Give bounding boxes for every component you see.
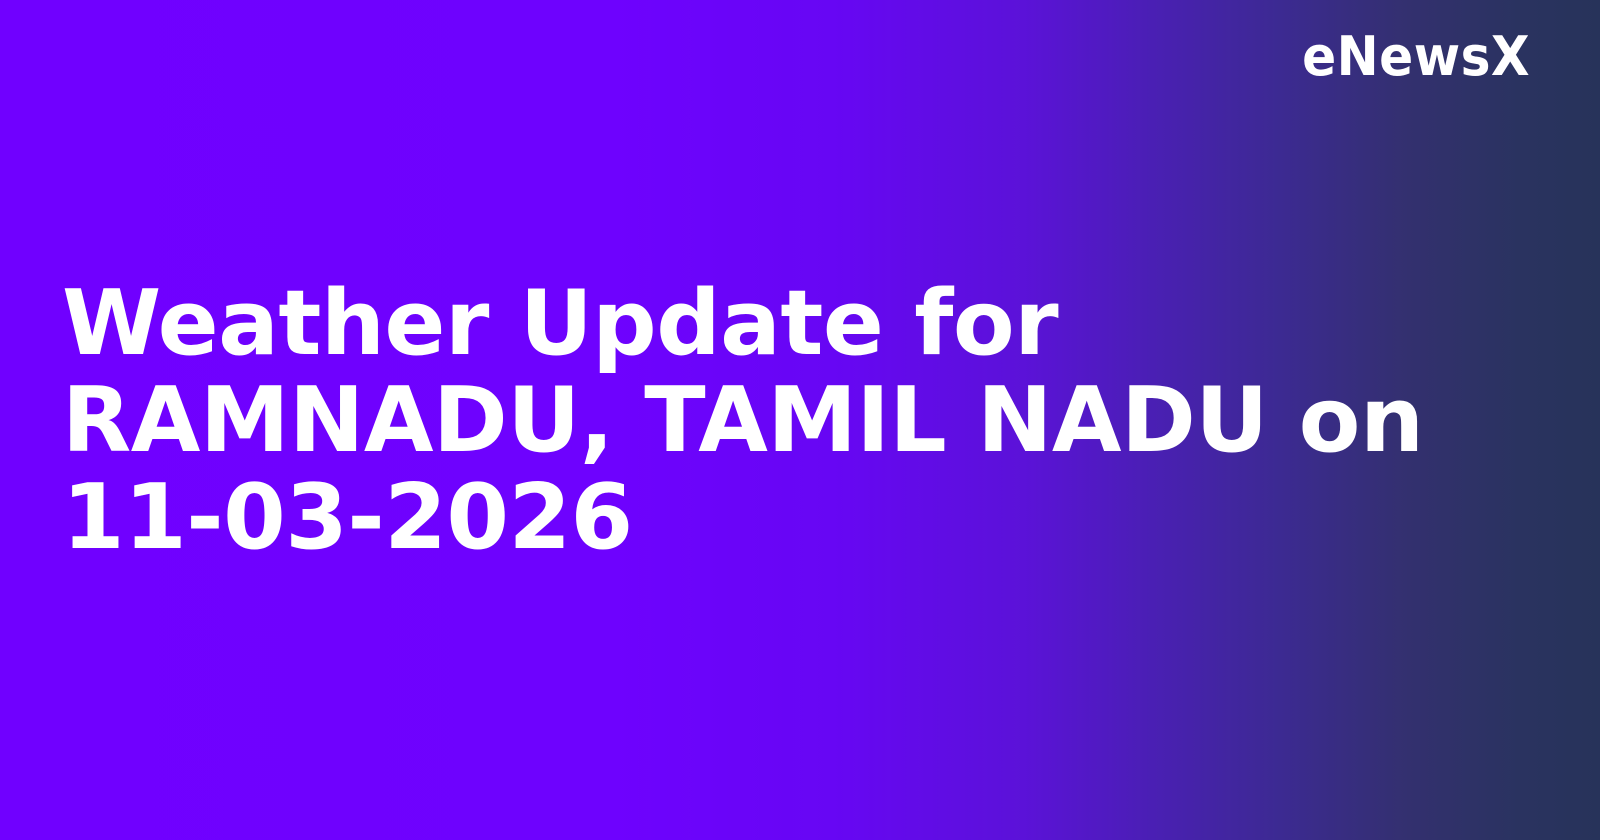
headline-line-3: 11-03-2026 [62,469,1362,566]
headline-container: Weather Update for RAMNADU, TAMIL NADU o… [62,0,1392,840]
headline-line-2: RAMNADU, TAMIL NADU on [62,372,1362,469]
news-banner: eNewsX Weather Update for RAMNADU, TAMIL… [0,0,1600,840]
headline-line-1: Weather Update for [62,275,1362,372]
page-title: Weather Update for RAMNADU, TAMIL NADU o… [62,275,1362,566]
